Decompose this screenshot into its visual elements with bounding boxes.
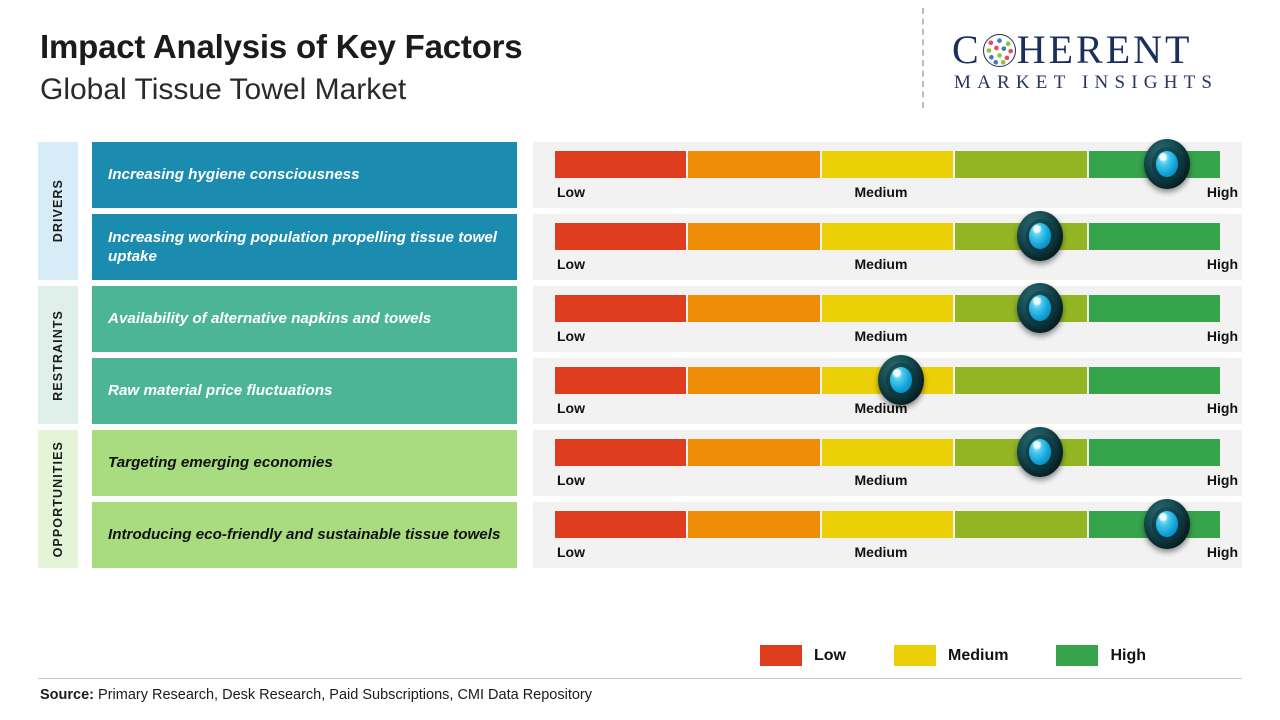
legend-label: Medium [948, 647, 1008, 665]
impact-gauge: LowMediumHigh [533, 214, 1242, 280]
group-rows: Availability of alternative napkins and … [78, 286, 1242, 424]
gauge-segment-1 [555, 511, 686, 538]
impact-gauge: LowMediumHigh [533, 430, 1242, 496]
logo-divider [922, 8, 924, 108]
gauge-segment-5 [1089, 511, 1220, 538]
scale-label-high: High [1207, 472, 1238, 488]
gauge-scale-labels: LowMediumHigh [555, 184, 1220, 200]
factor-group: RESTRAINTSAvailability of alternative na… [38, 286, 1242, 424]
factor-box[interactable]: Availability of alternative napkins and … [92, 286, 517, 352]
factor-text: Availability of alternative napkins and … [108, 309, 431, 328]
gauge-segment-5 [1089, 295, 1220, 322]
gauge-segment-3 [822, 151, 953, 178]
gauge-segment-5 [1089, 151, 1220, 178]
gauge-segment-2 [688, 439, 819, 466]
legend-swatch [760, 645, 802, 666]
factor-box[interactable]: Increasing hygiene consciousness [92, 142, 517, 208]
scale-label-low: Low [557, 544, 585, 560]
footer-divider [38, 678, 1242, 679]
factor-group: DRIVERSIncreasing hygiene consciousnessL… [38, 142, 1242, 280]
scale-label-high: High [1207, 328, 1238, 344]
impact-matrix: DRIVERSIncreasing hygiene consciousnessL… [38, 142, 1242, 574]
gauge-segment-1 [555, 439, 686, 466]
gauge-segment-3 [822, 511, 953, 538]
header: Impact Analysis of Key Factors Global Ti… [40, 28, 522, 109]
gauge-segment-2 [688, 151, 819, 178]
logo-wordmark: C HERENT [952, 26, 1192, 73]
factor-text: Targeting emerging economies [108, 453, 333, 472]
gauge-segment-2 [688, 295, 819, 322]
gauge-bar [555, 295, 1220, 322]
scale-label-high: High [1207, 400, 1238, 416]
group-label-opportunities: OPPORTUNITIES [38, 430, 78, 568]
factor-text: Increasing working population propelling… [108, 228, 501, 267]
factor-text: Increasing hygiene consciousness [108, 165, 360, 184]
group-label-text: RESTRAINTS [51, 310, 65, 401]
logo-tagline: MARKET INSIGHTS [954, 72, 1218, 94]
legend-item: High [1056, 645, 1146, 666]
gauge-segment-3 [822, 439, 953, 466]
scale-label-medium: Medium [855, 256, 908, 272]
gauge-segment-4 [955, 511, 1086, 538]
legend-swatch [894, 645, 936, 666]
gauge-scale-labels: LowMediumHigh [555, 256, 1220, 272]
factor-row: Increasing hygiene consciousnessLowMediu… [78, 142, 1242, 208]
group-label-drivers: DRIVERS [38, 142, 78, 280]
factor-row: Availability of alternative napkins and … [78, 286, 1242, 352]
slide-root: Impact Analysis of Key Factors Global Ti… [0, 0, 1280, 720]
gauge-scale-labels: LowMediumHigh [555, 544, 1220, 560]
legend: LowMediumHigh [760, 645, 1146, 666]
logo-brand-first-letter: C [952, 26, 982, 73]
logo-brand-rest: HERENT [1017, 26, 1193, 73]
factor-row: Increasing working population propelling… [78, 214, 1242, 280]
scale-label-medium: Medium [855, 472, 908, 488]
gauge-segment-1 [555, 295, 686, 322]
gauge-bar [555, 223, 1220, 250]
gauge-segment-2 [688, 367, 819, 394]
factor-row: Introducing eco-friendly and sustainable… [78, 502, 1242, 568]
gauge-segment-2 [688, 223, 819, 250]
factor-box[interactable]: Targeting emerging economies [92, 430, 517, 496]
gauge-segment-5 [1089, 367, 1220, 394]
source-value: Primary Research, Desk Research, Paid Su… [94, 687, 592, 703]
source-note: Source: Primary Research, Desk Research,… [40, 687, 592, 703]
group-label-text: DRIVERS [51, 179, 65, 242]
group-label-text: OPPORTUNITIES [51, 441, 65, 557]
legend-item: Medium [894, 645, 1008, 666]
gauge-scale-labels: LowMediumHigh [555, 328, 1220, 344]
group-rows: Targeting emerging economiesLowMediumHig… [78, 430, 1242, 568]
scale-label-low: Low [557, 328, 585, 344]
gauge-bar [555, 151, 1220, 178]
gauge-segment-1 [555, 151, 686, 178]
legend-label: Low [814, 647, 846, 665]
factor-row: Targeting emerging economiesLowMediumHig… [78, 430, 1242, 496]
scale-label-high: High [1207, 184, 1238, 200]
factor-row: Raw material price fluctuationsLowMedium… [78, 358, 1242, 424]
gauge-scale-labels: LowMediumHigh [555, 400, 1220, 416]
legend-item: Low [760, 645, 846, 666]
legend-label: High [1110, 647, 1146, 665]
gauge-scale-labels: LowMediumHigh [555, 472, 1220, 488]
factor-box[interactable]: Raw material price fluctuations [92, 358, 517, 424]
page-subtitle: Global Tissue Towel Market [40, 70, 522, 109]
impact-gauge: LowMediumHigh [533, 286, 1242, 352]
scale-label-high: High [1207, 544, 1238, 560]
scale-label-high: High [1207, 256, 1238, 272]
gauge-segment-3 [822, 223, 953, 250]
gauge-segment-4 [955, 223, 1086, 250]
brand-logo: C HERENT MARKET INSIGHTS [922, 22, 1262, 104]
impact-gauge: LowMediumHigh [533, 502, 1242, 568]
scale-label-medium: Medium [855, 328, 908, 344]
gauge-segment-3 [822, 367, 953, 394]
gauge-segment-5 [1089, 223, 1220, 250]
gauge-bar [555, 439, 1220, 466]
scale-label-medium: Medium [855, 400, 908, 416]
impact-gauge: LowMediumHigh [533, 358, 1242, 424]
gauge-bar [555, 511, 1220, 538]
gauge-segment-4 [955, 151, 1086, 178]
factor-box[interactable]: Increasing working population propelling… [92, 214, 517, 280]
scale-label-medium: Medium [855, 184, 908, 200]
group-rows: Increasing hygiene consciousnessLowMediu… [78, 142, 1242, 280]
factor-text: Introducing eco-friendly and sustainable… [108, 525, 500, 544]
gauge-segment-4 [955, 367, 1086, 394]
scale-label-low: Low [557, 184, 585, 200]
gauge-segment-5 [1089, 439, 1220, 466]
gauge-segment-4 [955, 439, 1086, 466]
factor-text: Raw material price fluctuations [108, 381, 333, 400]
gauge-segment-1 [555, 223, 686, 250]
scale-label-low: Low [557, 472, 585, 488]
scale-label-low: Low [557, 256, 585, 272]
gauge-bar [555, 367, 1220, 394]
dotted-globe-icon [983, 34, 1016, 67]
impact-gauge: LowMediumHigh [533, 142, 1242, 208]
gauge-segment-3 [822, 295, 953, 322]
group-label-restraints: RESTRAINTS [38, 286, 78, 424]
factor-group: OPPORTUNITIESTargeting emerging economie… [38, 430, 1242, 568]
scale-label-low: Low [557, 400, 585, 416]
factor-box[interactable]: Introducing eco-friendly and sustainable… [92, 502, 517, 568]
gauge-segment-1 [555, 367, 686, 394]
scale-label-medium: Medium [855, 544, 908, 560]
source-label: Source: [40, 687, 94, 703]
gauge-segment-4 [955, 295, 1086, 322]
gauge-segment-2 [688, 511, 819, 538]
legend-swatch [1056, 645, 1098, 666]
page-title: Impact Analysis of Key Factors [40, 28, 522, 66]
